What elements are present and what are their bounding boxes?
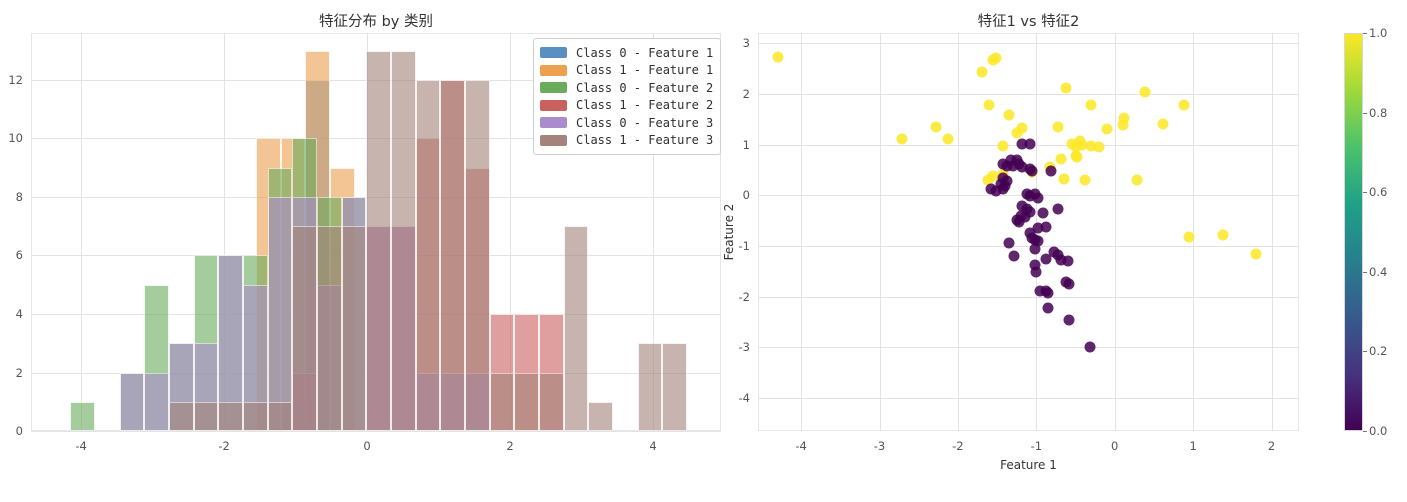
colorbar-tick-mark [1363,192,1367,193]
y-tick-label: -4 [730,391,750,405]
scatter-point [772,52,783,63]
y-tick-label: 0 [730,188,750,202]
histogram-bar [514,373,539,432]
y-tick-label: 3 [730,36,750,50]
scatter-point [1014,216,1025,227]
legend-label: Class 1 - Feature 3 [576,133,713,147]
x-tick-label: -2 [218,439,229,453]
scatter-point [931,121,942,132]
gridline-vertical [958,33,959,431]
scatter-point [1139,86,1150,97]
x-tick-label: -3 [874,439,885,453]
legend-label: Class 0 - Feature 1 [576,46,713,60]
colorbar-tick-mark [1363,351,1367,352]
histogram-bar [268,402,293,431]
legend-label: Class 1 - Feature 2 [576,98,713,112]
histogram-bar [539,373,564,432]
scatter-point [1101,124,1112,135]
colorbar-tick-label: 0.6 [1369,185,1387,199]
colorbar-panel: 1.00.80.60.40.20.0 [1330,0,1407,502]
legend-item[interactable]: Class 0 - Feature 1 [540,44,713,62]
colorbar-tick-label: 0.8 [1369,106,1387,120]
histogram-bar [391,51,416,431]
y-tick-label: 12 [0,73,23,87]
legend-label: Class 0 - Feature 3 [576,116,713,130]
gridline-vertical [880,33,881,431]
scatter-point [1003,110,1014,121]
colorbar-tick-label: 0.0 [1369,424,1387,438]
gridline-vertical [81,33,82,431]
legend-swatch-3 [540,100,567,111]
histogram-bar [144,373,169,432]
histogram-bar [243,402,268,431]
gridline-horizontal [758,297,1299,298]
scatter-point [1045,165,1056,176]
scatter-point [1062,256,1073,267]
legend-item[interactable]: Class 0 - Feature 3 [540,114,713,132]
scatter-point [1064,279,1075,290]
scatter-x-axis-label: Feature 1 [758,458,1299,472]
x-tick-label: -1 [1031,439,1042,453]
scatter-point [1080,175,1091,186]
scatter-point [1217,229,1228,240]
histogram-bar [292,226,317,431]
histogram-panel: 特征分布 by 类别 -4-2024 024681012 Class 0 - F… [0,0,730,502]
gridline-vertical [1193,33,1194,431]
legend-swatch-4 [540,117,567,128]
histogram-bar [416,80,441,431]
scatter-point [1056,153,1067,164]
x-tick-label: 4 [649,439,656,453]
scatter-panel: 特征1 vs 特征2 -4-3-2-1012 3210-1-2-3-4 Feat… [730,0,1330,502]
scatter-point [1025,228,1036,239]
y-tick-label: 0 [0,424,23,438]
scatter-point [1003,238,1014,249]
histogram-bar [440,80,465,431]
scatter-title: 特征1 vs 特征2 [758,10,1299,31]
scatter-point [1158,119,1169,130]
scatter-point [1117,120,1128,131]
scatter-point [942,133,953,144]
legend-swatch-1 [540,65,567,76]
histogram-bar [218,402,243,431]
histogram-bar [342,226,367,431]
scatter-point [1025,138,1036,149]
scatter-point [1094,142,1105,153]
legend-swatch-5 [540,135,567,146]
x-tick-label: -2 [952,439,963,453]
legend-item[interactable]: Class 1 - Feature 3 [540,132,713,150]
scatter-point [1178,100,1189,111]
histogram-bar [317,226,342,431]
x-tick-label: 2 [506,439,513,453]
scatter-point [1029,243,1040,254]
gridline-horizontal [758,398,1299,399]
y-tick-label: 2 [730,87,750,101]
legend-swatch-2 [540,82,567,93]
gridline-horizontal [31,431,721,432]
histogram-bar [638,343,663,431]
legend-label: Class 0 - Feature 2 [576,81,713,95]
gridline-vertical [1272,33,1273,431]
scatter-point [1086,100,1097,111]
x-tick-label: -4 [75,439,86,453]
figure-root: 特征分布 by 类别 -4-2024 024681012 Class 0 - F… [0,0,1407,502]
x-tick-label: 0 [363,439,370,453]
y-tick-label: 10 [0,131,23,145]
scatter-point [998,158,1009,169]
scatter-point [1032,192,1043,203]
scatter-point [896,133,907,144]
histogram-bar [169,402,194,431]
scatter-point [976,67,987,78]
x-tick-label: 2 [1268,439,1275,453]
colorbar-tick-mark [1363,431,1367,432]
scatter-point [1184,231,1195,242]
gridline-vertical [1115,33,1116,431]
histogram-bar [564,226,589,431]
legend-swatch-0 [540,47,567,58]
scatter-point [1058,174,1069,185]
scatter-point [1043,302,1054,313]
gridline-vertical [801,33,802,431]
colorbar-tick-mark [1363,113,1367,114]
colorbar-tick-label: 1.0 [1369,26,1387,40]
legend-item[interactable]: Class 1 - Feature 1 [540,62,713,80]
histogram-bar [588,402,613,431]
histogram-bar [70,402,95,431]
x-tick-label: 0 [1111,439,1118,453]
scatter-point [1040,221,1051,232]
x-tick-label: -4 [795,439,806,453]
y-tick-label: -3 [730,340,750,354]
gridline-horizontal [758,43,1299,44]
histogram-bar [465,80,490,431]
scatter-point [1053,121,1064,132]
scatter-point [1009,251,1020,262]
gridline-horizontal [758,347,1299,348]
legend-label: Class 1 - Feature 1 [576,63,713,77]
colorbar-tick-mark [1363,33,1367,34]
histogram-bar [194,402,219,431]
colorbar-gradient [1344,33,1363,431]
histogram-bar [120,373,145,432]
colorbar-tick-mark [1363,272,1367,273]
y-tick-label: 6 [0,248,23,262]
y-tick-label: 1 [730,138,750,152]
scatter-point [1250,248,1261,259]
scatter-point [1043,287,1054,298]
scatter-point [1061,82,1072,93]
scatter-point [1131,175,1142,186]
colorbar-tick-label: 0.2 [1369,344,1387,358]
scatter-point [1027,165,1038,176]
x-tick-label: 1 [1190,439,1197,453]
histogram-bar [366,51,391,431]
scatter-point [984,100,995,111]
histogram-title: 特征分布 by 类别 [31,10,721,31]
scatter-point [990,53,1001,64]
y-tick-label: 4 [0,307,23,321]
y-tick-label: 2 [0,366,23,380]
scatter-point [997,184,1008,195]
scatter-point [1084,342,1095,353]
scatter-point [1072,151,1083,162]
histogram-legend[interactable]: Class 0 - Feature 1Class 1 - Feature 1Cl… [533,38,721,155]
y-tick-label: 8 [0,190,23,204]
colorbar-tick-label: 0.4 [1369,265,1387,279]
scatter-point [1064,314,1075,325]
scatter-point [1031,267,1042,278]
scatter-point [1037,208,1048,219]
gridline-horizontal [758,94,1299,95]
legend-item[interactable]: Class 1 - Feature 2 [540,97,713,115]
histogram-bar [662,343,687,431]
histogram-bar [490,373,515,432]
scatter-y-axis-label: Feature 2 [722,204,736,261]
legend-item[interactable]: Class 0 - Feature 2 [540,79,713,97]
scatter-point [1053,204,1064,215]
scatter-point [985,184,996,195]
histogram-bar [268,197,293,431]
scatter-point [997,141,1008,152]
y-tick-label: -2 [730,290,750,304]
